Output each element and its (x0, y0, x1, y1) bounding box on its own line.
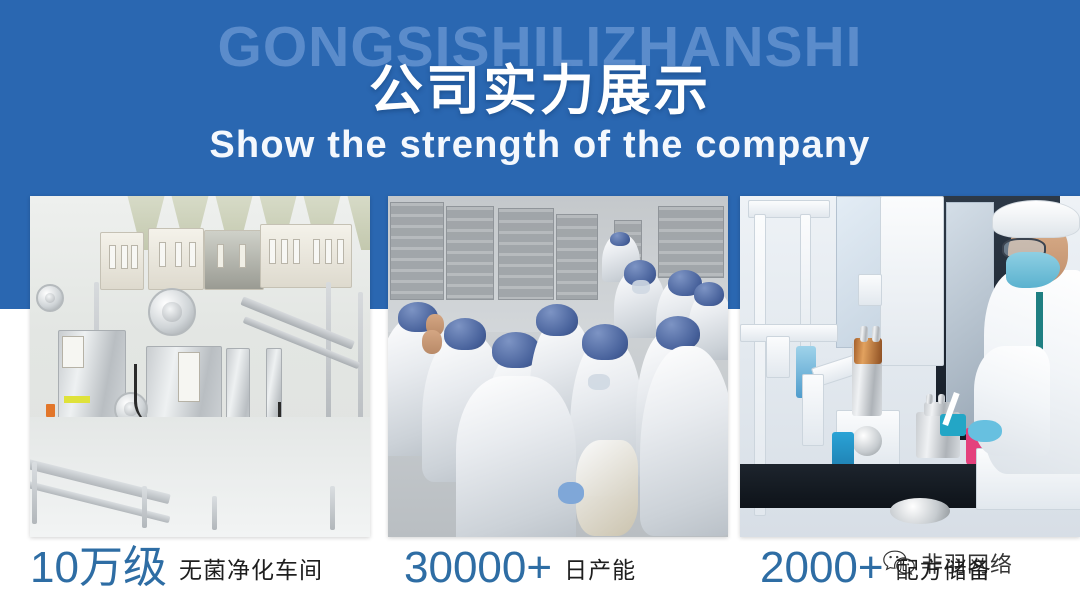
page-subtitle-english: Show the strength of the company (0, 124, 1080, 167)
caption-formula-reserve: 2000+ 配方储备 (760, 540, 992, 596)
caption-label: 配方储备 (896, 551, 992, 585)
caption-cleanroom: 10万级 无菌净化车间 (30, 540, 323, 596)
caption-number: 30000+ (404, 546, 552, 590)
caption-number: 2000+ (760, 546, 884, 590)
photo-lab-technician (740, 196, 1080, 537)
caption-label: 无菌净化车间 (179, 551, 323, 585)
photo-tea-bag-packaging-machinery (30, 196, 370, 537)
caption-label: 日产能 (564, 551, 636, 585)
caption-number: 10万级 (30, 546, 167, 590)
strength-card-laboratory (740, 196, 1080, 537)
company-strength-poster: GONGSISHILIZHANSHI 公司实力展示 Show the stren… (0, 0, 1080, 614)
photo-cleanroom-workers (388, 196, 728, 537)
strength-card-cleanroom (388, 196, 728, 537)
strength-card-machinery (30, 196, 370, 537)
page-title-chinese: 公司实力展示 (0, 46, 1080, 125)
caption-daily-capacity: 30000+ 日产能 (404, 540, 636, 596)
